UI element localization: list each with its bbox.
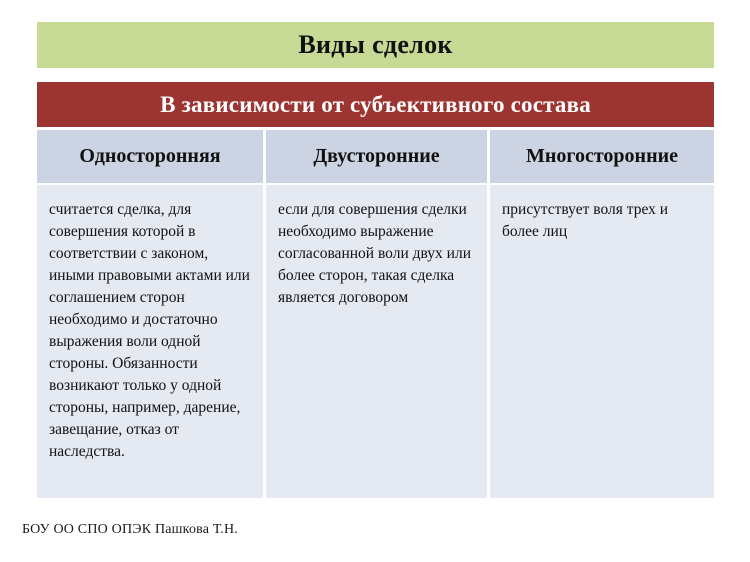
classification-table: Односторонняя Двусторонние Многосторонни… bbox=[37, 130, 714, 498]
slide-subtitle: В зависимости от субъективного состава bbox=[160, 93, 591, 116]
slide-canvas: Виды сделок В зависимости от субъективно… bbox=[0, 0, 750, 562]
table-cell-bilateral-description: если для совершения сделки необходимо вы… bbox=[263, 185, 487, 498]
table-column-header-unilateral: Односторонняя bbox=[37, 130, 263, 183]
table-row: считается сделка, для совершения которой… bbox=[37, 185, 714, 498]
table-cell-unilateral-description: считается сделка, для совершения которой… bbox=[37, 185, 263, 498]
table-header-row: Односторонняя Двусторонние Многосторонни… bbox=[37, 130, 714, 185]
footer-credit: БОУ ОО СПО ОПЭК Пашкова Т.Н. bbox=[22, 522, 238, 538]
slide-subtitle-band: В зависимости от субъективного состава bbox=[37, 82, 714, 127]
table-column-header-bilateral: Двусторонние bbox=[263, 130, 487, 183]
page-title: Виды сделок bbox=[298, 32, 452, 58]
table-column-header-multilateral: Многосторонние bbox=[487, 130, 714, 183]
table-cell-multilateral-description: присутствует воля трех и более лиц bbox=[487, 185, 714, 498]
slide-title-band: Виды сделок bbox=[37, 22, 714, 68]
